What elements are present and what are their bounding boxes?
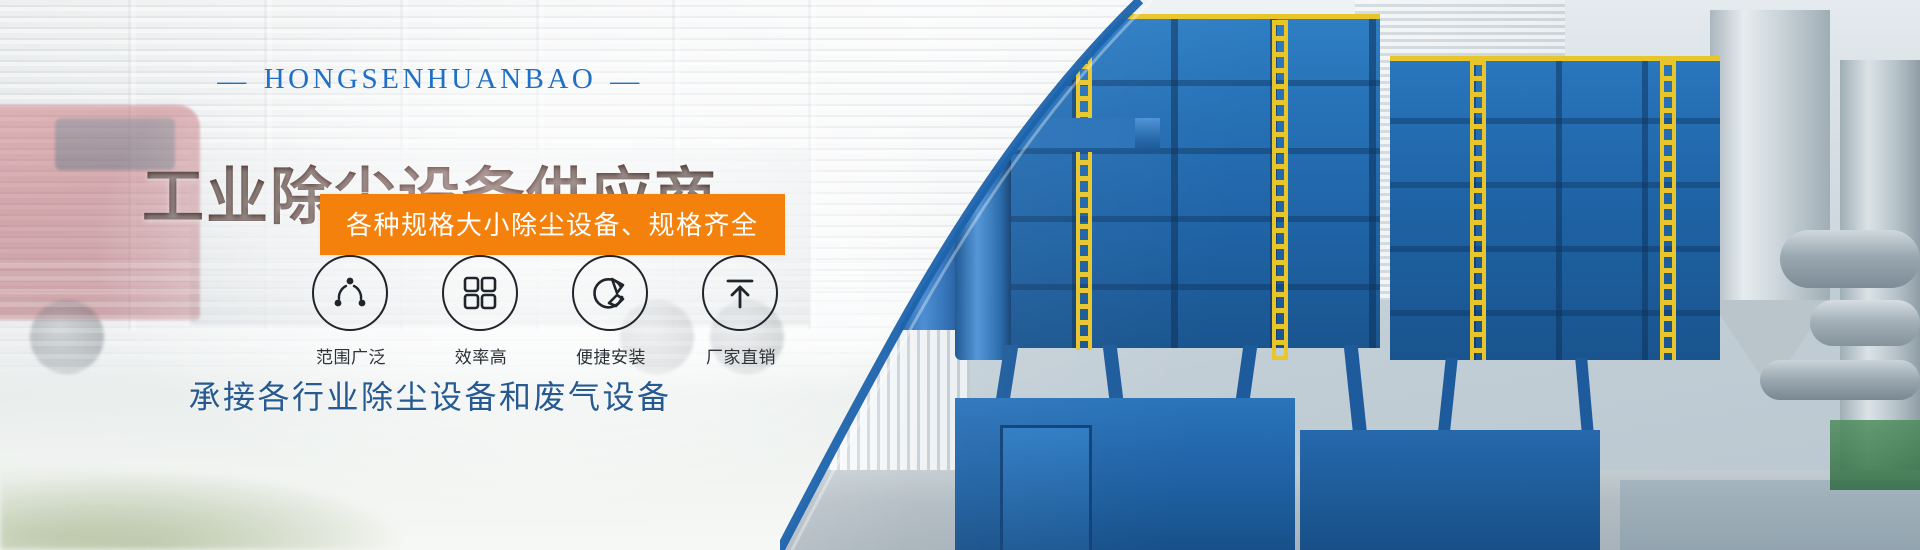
bottom-tagline: 承接各行业除尘设备和废气设备 <box>0 372 860 418</box>
feature-icon-circle <box>312 255 388 331</box>
share-network-icon <box>330 273 370 313</box>
feature-item-range[interactable]: 范围广泛 <box>312 255 390 368</box>
feature-label: 效率高 <box>442 343 520 368</box>
promo-banner: —HONGSENHUANBAO— 工业除尘设备供应商 各种规格大小除尘设备、规格… <box>0 0 1920 550</box>
feature-label: 厂家直销 <box>702 343 780 368</box>
feature-item-efficiency[interactable]: 效率高 <box>442 255 520 368</box>
tagline-badge: 各种规格大小除尘设备、规格齐全 <box>320 194 785 255</box>
feature-label: 范围广泛 <box>312 343 390 368</box>
eyebrow-dash-right: — <box>610 65 643 98</box>
eyebrow-text: HONGSENHUANBAO <box>264 63 597 95</box>
feature-list: 范围广泛 效率高 <box>312 255 780 368</box>
eyebrow-line: —HONGSENHUANBAO— <box>0 63 860 98</box>
banner-content: —HONGSENHUANBAO— 工业除尘设备供应商 各种规格大小除尘设备、规格… <box>0 0 860 550</box>
eyebrow-dash-left: — <box>217 65 250 98</box>
feature-icon-circle <box>702 255 778 331</box>
feature-icon-circle <box>442 255 518 331</box>
refresh-wrench-icon <box>590 273 630 313</box>
feature-icon-circle <box>572 255 648 331</box>
grid-squares-icon <box>461 274 499 312</box>
feature-item-direct-sale[interactable]: 厂家直销 <box>702 255 780 368</box>
feature-item-install[interactable]: 便捷安装 <box>572 255 650 368</box>
feature-label: 便捷安装 <box>572 343 650 368</box>
arrow-up-bar-icon <box>721 274 759 312</box>
